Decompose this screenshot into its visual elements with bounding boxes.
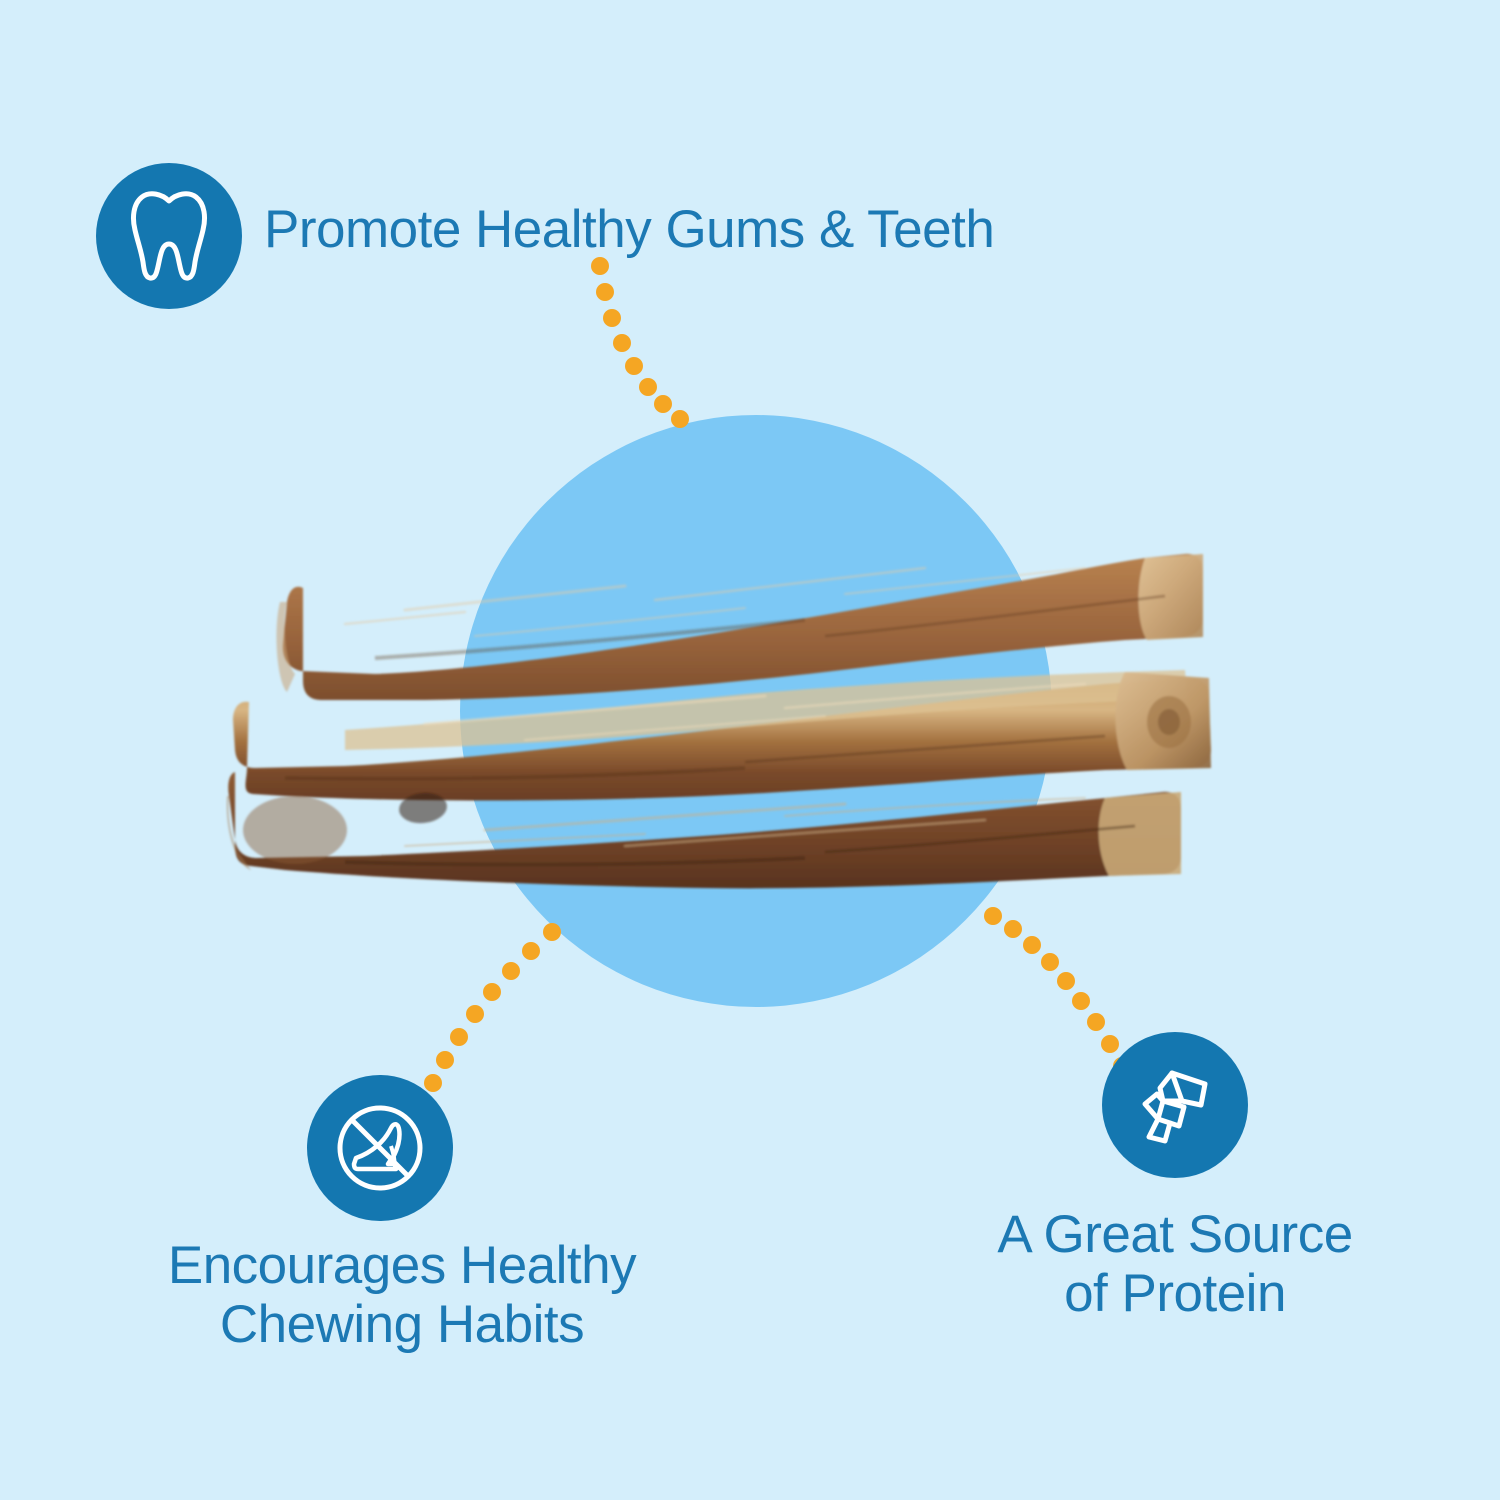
feature-label-protein: A Great Source of Protein <box>955 1205 1395 1324</box>
feature-label-teeth: Promote Healthy Gums & Teeth <box>264 200 994 259</box>
connector-teeth <box>591 257 689 428</box>
product-photo <box>225 540 1265 890</box>
connector-protein <box>984 907 1131 1075</box>
tooth-icon <box>128 188 210 284</box>
feature-icon-chewing[interactable] <box>307 1075 453 1221</box>
connector-chewing <box>424 923 561 1092</box>
feature-label-chewing: Encourages Healthy Chewing Habits <box>112 1236 692 1355</box>
infographic-canvas: Promote Healthy Gums & Teeth Encourages … <box>0 0 1500 1500</box>
feature-icon-teeth[interactable] <box>96 163 242 309</box>
protein-helix-icon <box>1127 1057 1223 1153</box>
no-shoe-chewing-icon <box>330 1098 430 1198</box>
feature-icon-protein[interactable] <box>1102 1032 1248 1178</box>
